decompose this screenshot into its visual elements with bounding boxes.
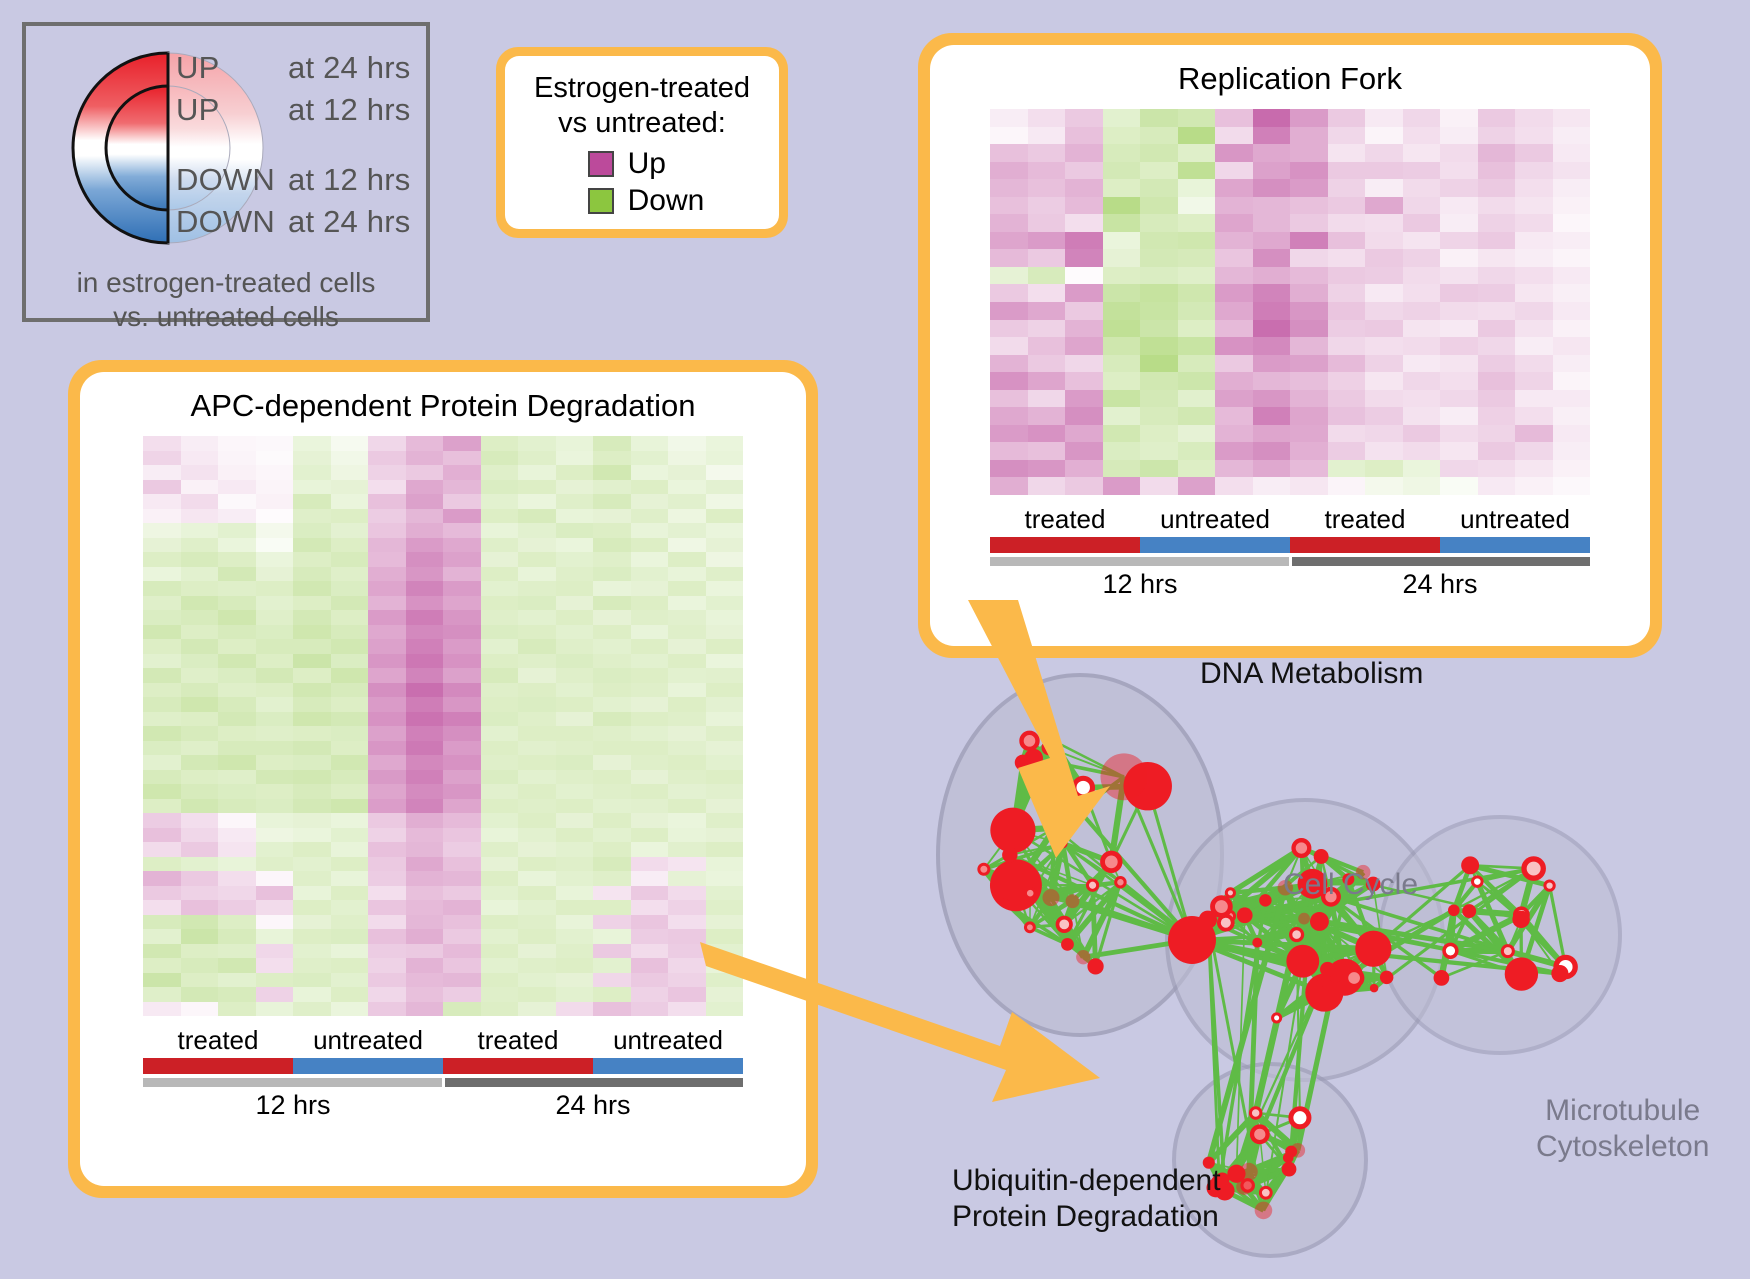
heatmap-cell <box>1215 162 1253 180</box>
network-node[interactable] <box>1551 965 1568 982</box>
heatmap-cell <box>556 639 594 654</box>
heatmap-cell <box>1365 460 1403 478</box>
heatmap-cell <box>331 697 369 712</box>
heatmap-cell <box>1140 372 1178 390</box>
heatmap-cell <box>368 958 406 973</box>
axis-timepoint-labels: 12 hrs 24 hrs <box>990 569 1590 600</box>
network-node[interactable] <box>1226 889 1234 897</box>
heatmap-cell <box>181 741 219 756</box>
heatmap-cell <box>1215 372 1253 390</box>
heatmap-cell <box>593 552 631 567</box>
heatmap-cell <box>518 697 556 712</box>
network-node[interactable] <box>1314 849 1329 864</box>
heatmap-cell <box>181 480 219 495</box>
heatmap-cell <box>181 784 219 799</box>
network-node[interactable] <box>1273 1014 1281 1022</box>
heatmap-cell <box>631 509 669 524</box>
network-node[interactable] <box>1380 971 1393 984</box>
network-node[interactable] <box>1320 962 1335 977</box>
network-node[interactable] <box>1462 904 1476 918</box>
heatmap-cell <box>668 567 706 582</box>
heatmap-cell <box>1215 460 1253 478</box>
heatmap-cell <box>593 799 631 814</box>
cluster-label-text: DNA Metabolism <box>1200 657 1423 690</box>
heatmap-cell <box>1515 442 1553 460</box>
heatmap-cell <box>1440 372 1478 390</box>
heatmap-cell <box>1215 390 1253 408</box>
heatmap-cell <box>990 232 1028 250</box>
heatmap-cell <box>331 915 369 930</box>
heatmap-cell <box>1553 390 1591 408</box>
axis-bar-untreated-12 <box>1140 537 1290 553</box>
heatmap-cell <box>218 552 256 567</box>
heatmap-cell <box>1253 425 1291 443</box>
heatmap-cell <box>181 871 219 886</box>
network-node[interactable] <box>1066 894 1080 908</box>
heatmap-cell <box>368 712 406 727</box>
heatmap-cell <box>143 465 181 480</box>
axis-group-label: treated <box>443 1025 593 1056</box>
heatmap-cell <box>668 494 706 509</box>
heatmap-cell <box>1290 214 1328 232</box>
heatmap-cell <box>593 538 631 553</box>
heatmap-cell <box>1553 477 1591 495</box>
heatmap-cell <box>1440 214 1478 232</box>
heatmap-cell <box>256 929 294 944</box>
heatmap-cell <box>1103 337 1141 355</box>
heatmap-cell <box>556 654 594 669</box>
heatmap-cell <box>406 1002 444 1017</box>
network-node[interactable] <box>1252 938 1262 948</box>
heatmap-cell <box>1103 109 1141 127</box>
heatmap-cell <box>331 567 369 582</box>
heatmap-cell <box>631 465 669 480</box>
heatmap-cell <box>331 480 369 495</box>
heatmap-cell <box>1215 144 1253 162</box>
network-node[interactable] <box>1219 916 1233 930</box>
heatmap-cell <box>556 538 594 553</box>
heatmap-cell <box>1440 127 1478 145</box>
heatmap-cell <box>481 958 519 973</box>
heatmap-cell <box>706 465 744 480</box>
heatmap-cell <box>368 639 406 654</box>
heatmap-cell <box>181 639 219 654</box>
heatmap-cell <box>406 944 444 959</box>
heatmap-cell <box>218 784 256 799</box>
heatmap-cell <box>143 451 181 466</box>
heatmap-cell <box>1328 109 1366 127</box>
network-node[interactable] <box>1512 911 1529 928</box>
heatmap-cell <box>1290 407 1328 425</box>
heatmap-cell <box>1253 284 1291 302</box>
network-node[interactable] <box>1316 979 1324 987</box>
network-node[interactable] <box>1252 1127 1268 1143</box>
heatmap-cell <box>406 480 444 495</box>
heatmap-cell <box>631 973 669 988</box>
heatmap-cell <box>668 683 706 698</box>
heatmap-cell <box>331 842 369 857</box>
network-node[interactable] <box>1237 907 1253 923</box>
heatmap-cell <box>406 581 444 596</box>
heatmap-cell <box>1440 232 1478 250</box>
heatmap-cell <box>556 987 594 1002</box>
heatmap-cell <box>1365 109 1403 127</box>
heatmap-cell <box>631 741 669 756</box>
heatmap-cell <box>631 929 669 944</box>
heatmap-cell <box>181 465 219 480</box>
heatmap-cell <box>293 973 331 988</box>
network-node[interactable] <box>1461 856 1479 874</box>
heatmap-cell <box>1140 477 1178 495</box>
heatmap-cell <box>218 828 256 843</box>
network-node[interactable] <box>1116 878 1125 887</box>
heatmap-cell <box>331 552 369 567</box>
heatmap-cell <box>990 355 1028 373</box>
heatmap-cell <box>481 494 519 509</box>
heatmap-cell <box>1103 442 1141 460</box>
heatmap-cell <box>518 581 556 596</box>
heatmap-cell <box>1515 372 1553 390</box>
network-node[interactable] <box>990 859 1042 911</box>
heatmap-cell <box>706 813 744 828</box>
network-node[interactable] <box>1283 1152 1294 1163</box>
heatmap-cell <box>1328 197 1366 215</box>
heatmap-cell <box>990 337 1028 355</box>
heatmap-cell <box>368 784 406 799</box>
network-node[interactable] <box>1310 912 1329 931</box>
heatmap-cell <box>668 712 706 727</box>
heatmap-cell <box>331 799 369 814</box>
network-node[interactable] <box>1355 931 1391 967</box>
heatmap-cell <box>1365 390 1403 408</box>
heatmap-cell <box>1215 179 1253 197</box>
heatmap-cell <box>631 915 669 930</box>
heatmap-cell <box>631 538 669 553</box>
heatmap-cell <box>1515 109 1553 127</box>
network-node[interactable] <box>1240 1163 1258 1181</box>
heatmap-cell <box>406 741 444 756</box>
heatmap-cell <box>1215 127 1253 145</box>
heatmap-cell <box>293 451 331 466</box>
heatmap-cell <box>1440 284 1478 302</box>
network-node[interactable] <box>1502 946 1513 957</box>
network-node[interactable] <box>1434 970 1450 986</box>
heatmap-cell <box>518 813 556 828</box>
network-node[interactable] <box>1087 880 1097 890</box>
heatmap-cell <box>218 625 256 640</box>
heatmap-cell <box>1328 425 1366 443</box>
heatmap-cell <box>143 973 181 988</box>
heatmap-cell <box>256 567 294 582</box>
heatmap-cell <box>443 944 481 959</box>
heatmap-cell <box>1440 477 1478 495</box>
down-swatch-icon <box>588 188 614 214</box>
heatmap-cell <box>481 451 519 466</box>
heatmap-cell <box>481 929 519 944</box>
heatmap-cell <box>706 581 744 596</box>
network-node[interactable] <box>1291 929 1303 941</box>
heatmap-cell <box>1515 197 1553 215</box>
heatmap-cell <box>990 144 1028 162</box>
heatmap-cell <box>1290 302 1328 320</box>
heatmap-cell <box>1328 267 1366 285</box>
heatmap-cell <box>368 726 406 741</box>
network-node[interactable] <box>1524 859 1543 878</box>
network-node[interactable] <box>1260 1187 1271 1198</box>
network-node[interactable] <box>1042 889 1059 906</box>
network-node[interactable] <box>1291 1109 1309 1127</box>
heatmap-cell <box>1365 127 1403 145</box>
heatmap-cell <box>1028 337 1066 355</box>
heatmap-cell <box>181 523 219 538</box>
heatmap-cell <box>1290 477 1328 495</box>
heatmap-cell <box>293 596 331 611</box>
heatmap-cell <box>556 567 594 582</box>
heatmap-cell <box>518 741 556 756</box>
heatmap-cell <box>256 871 294 886</box>
heatmap-cell <box>1178 477 1216 495</box>
heatmap-cell <box>218 668 256 683</box>
heatmap-cell <box>1028 442 1066 460</box>
heatmap-cell <box>218 813 256 828</box>
cluster-label-cell-cycle: Cell Cycle <box>1283 868 1418 902</box>
heatmap-cell <box>293 929 331 944</box>
heatmap-cell <box>1478 284 1516 302</box>
heatmap-cell <box>1440 407 1478 425</box>
heatmap-cell <box>331 668 369 683</box>
network-node[interactable] <box>1000 898 1009 907</box>
axis-group-bars <box>143 1058 743 1074</box>
network-node[interactable] <box>1505 957 1538 990</box>
heatmap-cell <box>1103 320 1141 338</box>
heatmap-cell <box>481 726 519 741</box>
heatmap-cell <box>1103 179 1141 197</box>
heatmap-cell <box>181 436 219 451</box>
heatmap-cell <box>990 127 1028 145</box>
heatmap-cell <box>1290 144 1328 162</box>
heatmap-cell <box>406 958 444 973</box>
heatmap-cell <box>143 770 181 785</box>
heatmap-cell <box>368 610 406 625</box>
heatmap-cell <box>406 973 444 988</box>
heatmap-cell <box>1065 197 1103 215</box>
heatmap-cell <box>143 1002 181 1017</box>
heatmap-cell <box>593 770 631 785</box>
heatmap-cell <box>368 567 406 582</box>
heatmap-cell <box>331 494 369 509</box>
heatmap-cell <box>706 915 744 930</box>
heatmap-cell <box>1028 267 1066 285</box>
heatmap-cell <box>1365 302 1403 320</box>
heatmap-cell <box>631 567 669 582</box>
heatmap-cell <box>443 654 481 669</box>
legend-item-label: Down <box>628 184 705 218</box>
heatmap-cell <box>556 552 594 567</box>
heatmap-cell <box>143 813 181 828</box>
network-node[interactable] <box>979 864 989 874</box>
heatmap-cell <box>443 857 481 872</box>
heatmap-cell <box>593 451 631 466</box>
heatmap-cell <box>1065 162 1103 180</box>
network-node[interactable] <box>1370 984 1379 993</box>
heatmap-cell <box>143 523 181 538</box>
heatmap-cell <box>1103 144 1141 162</box>
heatmap-cell <box>593 654 631 669</box>
network-node[interactable] <box>1346 970 1362 986</box>
heatmap-cell <box>443 871 481 886</box>
heatmap-cell <box>368 741 406 756</box>
heatmap-cell <box>331 451 369 466</box>
heatmap-cell <box>706 523 744 538</box>
heatmap-cell <box>706 828 744 843</box>
heatmap-cell <box>406 755 444 770</box>
heatmap-cell <box>181 610 219 625</box>
heatmap-cell <box>1215 267 1253 285</box>
heatmap-cell <box>1403 144 1441 162</box>
heatmap-cell <box>518 610 556 625</box>
heatmap-cell <box>556 1002 594 1017</box>
heatmap-cell <box>1215 109 1253 127</box>
heatmap-cell <box>481 784 519 799</box>
heatmap-cell <box>181 973 219 988</box>
heatmap-cell <box>1328 162 1366 180</box>
key-word: DOWN <box>176 162 288 198</box>
heatmap-cell <box>1478 355 1516 373</box>
heatmap-cell <box>1328 284 1366 302</box>
axis-timepoint-label: 24 hrs <box>443 1090 743 1121</box>
heatmap-cell <box>1478 460 1516 478</box>
heatmap-cell <box>143 697 181 712</box>
heatmap-cell <box>443 581 481 596</box>
heatmap-cell <box>256 465 294 480</box>
heatmap-cell <box>443 726 481 741</box>
heatmap-cell <box>1215 302 1253 320</box>
heatmap-cell <box>593 1002 631 1017</box>
heatmap-cell <box>668 480 706 495</box>
heatmap-cell <box>181 683 219 698</box>
heatmap-cell <box>481 712 519 727</box>
heatmap-cell <box>631 842 669 857</box>
network-node[interactable] <box>1286 945 1319 978</box>
heatmap-cell <box>1440 249 1478 267</box>
heatmap-cell <box>1065 460 1103 478</box>
network-node[interactable] <box>1448 904 1460 916</box>
heatmap-cell <box>631 610 669 625</box>
heatmap-cell <box>1403 249 1441 267</box>
heatmap-cell <box>706 871 744 886</box>
heatmap-cell <box>706 741 744 756</box>
page-title: Replication Fork <box>1178 61 1402 97</box>
heatmap-cell <box>443 625 481 640</box>
network-node[interactable] <box>1294 840 1310 856</box>
heatmap-cell <box>706 639 744 654</box>
heatmap-cell <box>556 973 594 988</box>
heatmap-grid <box>143 436 743 1016</box>
heatmap-cell <box>518 683 556 698</box>
heatmap-cell <box>143 538 181 553</box>
heatmap-cell <box>1178 425 1216 443</box>
heatmap-cell <box>1553 109 1591 127</box>
heatmap-cell <box>1478 197 1516 215</box>
heatmap-cell <box>218 683 256 698</box>
heatmap-cell <box>1103 372 1141 390</box>
heatmap-cell <box>1140 179 1178 197</box>
heatmap-cell <box>406 813 444 828</box>
heatmap-cell <box>1440 460 1478 478</box>
heatmap-cell <box>518 944 556 959</box>
heatmap-cell <box>368 929 406 944</box>
heatmap-cell <box>443 813 481 828</box>
heatmap-cell <box>143 654 181 669</box>
heatmap-cell <box>1403 109 1441 127</box>
heatmap-cell <box>368 799 406 814</box>
heatmap-cell <box>218 857 256 872</box>
heatmap-cell <box>990 477 1028 495</box>
heatmap-cell <box>556 523 594 538</box>
heatmap-cell <box>1515 214 1553 232</box>
network-node[interactable] <box>1444 944 1457 957</box>
heatmap-cell <box>668 813 706 828</box>
heatmap-cell <box>1140 127 1178 145</box>
heatmap-cell <box>293 842 331 857</box>
heatmap-cell <box>518 726 556 741</box>
heatmap-cell <box>181 712 219 727</box>
heatmap-cell <box>331 712 369 727</box>
heatmap-cell <box>706 451 744 466</box>
heatmap-cell <box>293 538 331 553</box>
network-node[interactable] <box>1259 894 1271 906</box>
network-node[interactable] <box>1298 913 1310 925</box>
heatmap-cell <box>406 828 444 843</box>
network-node[interactable] <box>1255 1202 1273 1220</box>
heatmap-cell <box>256 1002 294 1017</box>
heatmap-cell <box>1290 390 1328 408</box>
heatmap-cell <box>331 987 369 1002</box>
heatmap-cell <box>593 871 631 886</box>
heatmap-cell <box>631 987 669 1002</box>
heatmap-cell <box>256 683 294 698</box>
heatmap-cell <box>331 944 369 959</box>
heatmap-cell <box>443 552 481 567</box>
heatmap-cell <box>293 610 331 625</box>
heatmap-cell <box>556 436 594 451</box>
heatmap-cell <box>406 915 444 930</box>
heatmap-cell <box>1140 214 1178 232</box>
network-node[interactable] <box>1213 898 1231 916</box>
network-node[interactable] <box>1473 877 1483 887</box>
network-node[interactable] <box>1025 888 1035 898</box>
heatmap-cell <box>293 567 331 582</box>
heatmap-cell <box>181 654 219 669</box>
heatmap-cell <box>368 886 406 901</box>
heatmap-cell <box>331 523 369 538</box>
axis-bar-treated-12 <box>990 537 1140 553</box>
heatmap-cell <box>1478 407 1516 425</box>
heatmap-cell <box>143 842 181 857</box>
network-node[interactable] <box>1545 881 1554 890</box>
heatmap-cell <box>990 425 1028 443</box>
heatmap-cell <box>406 639 444 654</box>
heatmap-cell <box>556 741 594 756</box>
network-node[interactable] <box>1282 1162 1297 1177</box>
network-node[interactable] <box>1250 1108 1260 1118</box>
heatmap-cell <box>293 697 331 712</box>
heatmap-cell <box>1365 425 1403 443</box>
heatmap-cell <box>331 610 369 625</box>
heatmap-cell <box>481 1002 519 1017</box>
heatmap-cell <box>181 567 219 582</box>
heatmap-cell <box>990 407 1028 425</box>
